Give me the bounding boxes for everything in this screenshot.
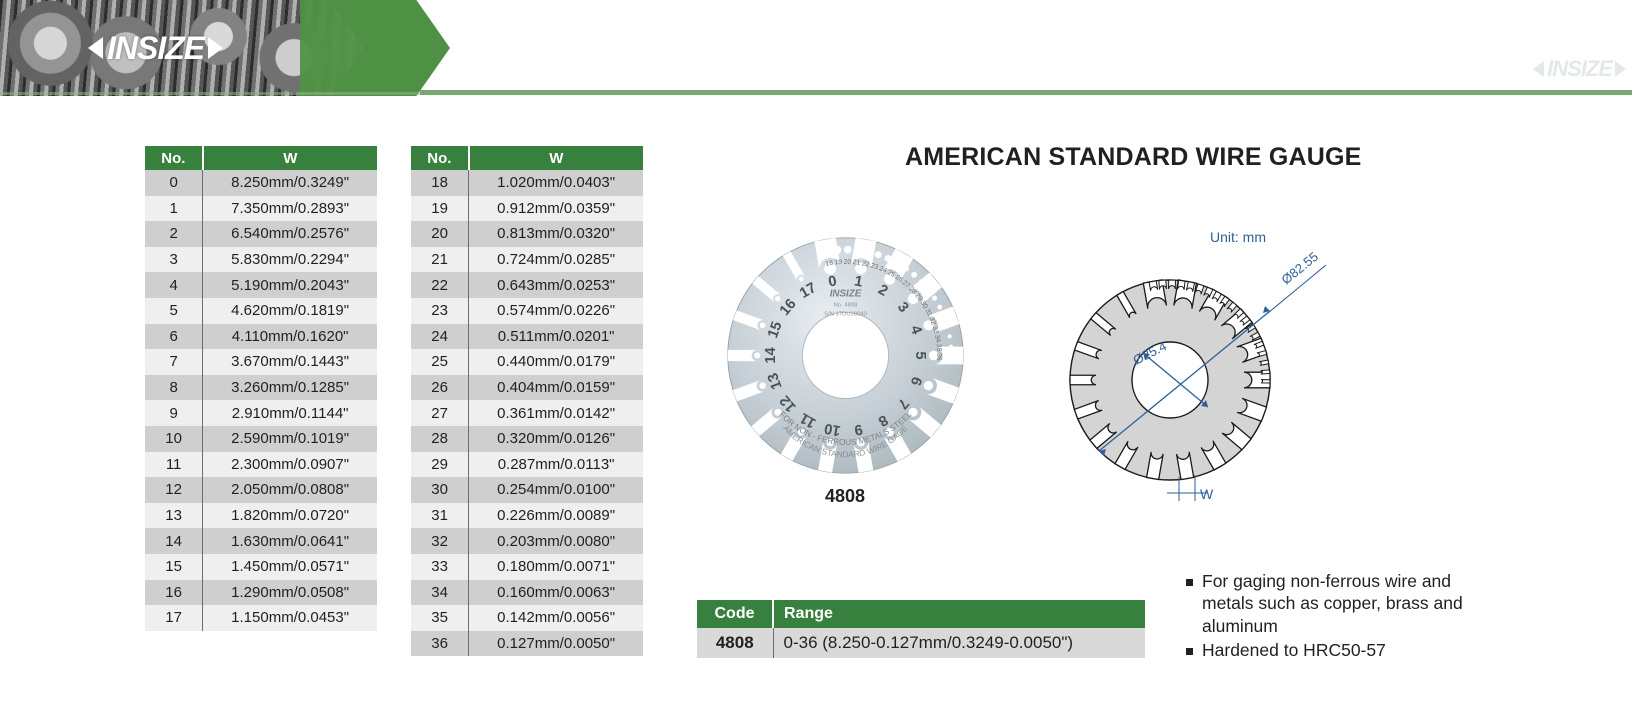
gauge-slot-small — [911, 272, 917, 278]
cell-w: 4.110mm/0.1620" — [203, 324, 377, 350]
cell-no: 10 — [145, 426, 203, 452]
cell-no: 19 — [411, 196, 469, 222]
gauge-slot-small — [894, 260, 900, 266]
product-code-label: 4808 — [700, 486, 990, 507]
cell-no: 18 — [411, 170, 469, 196]
gauge-number-small: 21 — [852, 259, 861, 267]
code-range-table: Code Range 4808 0-36 (8.250-0.127mm/0.32… — [697, 600, 1145, 658]
engraving-model: No. 4808 — [834, 302, 859, 308]
cell-w: 2.590mm/0.1019" — [203, 426, 377, 452]
cell-no: 29 — [411, 452, 469, 478]
cell-no: 33 — [411, 554, 469, 580]
drawing-slot-small — [1261, 380, 1270, 383]
cell-no: 5 — [145, 298, 203, 324]
table-row: 45.190mm/0.2043" — [145, 272, 377, 298]
gauge-number-small: 35 — [935, 344, 943, 352]
brand-name: INSIZE — [107, 32, 204, 64]
cell-w: 2.050mm/0.0808" — [203, 477, 377, 503]
gauge-slot-small — [919, 279, 925, 285]
table-row: 220.643mm/0.0253" — [411, 272, 643, 298]
cell-no: 31 — [411, 503, 469, 529]
cell-no: 20 — [411, 221, 469, 247]
table-row: 300.254mm/0.0100" — [411, 477, 643, 503]
table-row: 270.361mm/0.0142" — [411, 400, 643, 426]
table-row: 161.290mm/0.0508" — [145, 580, 377, 606]
list-item: Hardened to HRC50-57 — [1186, 639, 1486, 661]
cell-no: 16 — [145, 580, 203, 606]
cell-no: 13 — [145, 503, 203, 529]
cell-w: 1.290mm/0.0508" — [203, 580, 377, 606]
cell-no: 23 — [411, 298, 469, 324]
gauge-slot-small — [932, 296, 937, 301]
cell-no: 32 — [411, 528, 469, 554]
column-header-code: Code — [697, 600, 773, 628]
cell-w: 2.300mm/0.0907" — [203, 452, 377, 478]
table-row: 122.050mm/0.0808" — [145, 477, 377, 503]
gauge-slot-small — [926, 287, 931, 292]
engraving-brand: INSIZE — [830, 289, 862, 300]
page-header: INSIZE INSIZE — [0, 0, 1632, 96]
gauge-slot-small — [903, 265, 909, 271]
wire-gauge-table-right: No. W 181.020mm/0.0403"190.912mm/0.0359"… — [411, 146, 643, 656]
unit-label: Unit: mm — [1210, 229, 1266, 245]
table-body-left: 08.250mm/0.3249"17.350mm/0.2893"26.540mm… — [145, 170, 377, 631]
table-header-row: No. W — [411, 146, 643, 170]
gauge-dimension-drawing: Ø82.55 Ø25.4 W — [1040, 225, 1340, 505]
cell-w: 0.813mm/0.0320" — [469, 221, 643, 247]
table-row: 181.020mm/0.0403" — [411, 170, 643, 196]
cell-no: 24 — [411, 324, 469, 350]
watermark-brand-name: INSIZE — [1547, 58, 1612, 80]
gauge-slot-small — [823, 247, 831, 255]
column-header-w: W — [203, 146, 377, 170]
arrow-left-icon — [88, 37, 103, 59]
gauge-slot-small — [885, 255, 892, 262]
page-title: AMERICAN STANDARD WIRE GAUGE — [905, 143, 1362, 172]
table-row: 08.250mm/0.3249" — [145, 170, 377, 196]
table-row: 360.127mm/0.0050" — [411, 631, 643, 657]
gauge-number: 14 — [763, 347, 779, 364]
cell-no: 34 — [411, 580, 469, 606]
code-table-header-row: Code Range — [697, 600, 1145, 628]
cell-w: 0.440mm/0.0179" — [469, 349, 643, 375]
outer-diameter-label: Ø82.55 — [1278, 249, 1321, 288]
table-row: 330.180mm/0.0071" — [411, 554, 643, 580]
cell-no: 8 — [145, 375, 203, 401]
column-header-no: No. — [145, 146, 203, 170]
code-table-body: 4808 0-36 (8.250-0.127mm/0.3249-0.0050") — [697, 628, 1145, 658]
table-row: 131.820mm/0.0720" — [145, 503, 377, 529]
cell-w: 0.142mm/0.0056" — [469, 605, 643, 631]
cell-w: 1.630mm/0.0641" — [203, 528, 377, 554]
cell-w: 0.361mm/0.0142" — [469, 400, 643, 426]
cell-w: 0.254mm/0.0100" — [469, 477, 643, 503]
table-header-row: No. W — [145, 146, 377, 170]
feature-text: Hardened to HRC50-57 — [1202, 639, 1386, 661]
wire-gauge-table-left: No. W 08.250mm/0.3249"17.350mm/0.2893"26… — [145, 146, 377, 631]
cell-w: 0.724mm/0.0285" — [469, 247, 643, 273]
cell-no: 1 — [145, 196, 203, 222]
feature-list: For gaging non-ferrous wire and metals s… — [1186, 570, 1486, 664]
cell-w: 0.574mm/0.0226" — [469, 298, 643, 324]
gauge-slot-small — [937, 305, 942, 310]
cell-no: 9 — [145, 400, 203, 426]
table-row: 340.160mm/0.0063" — [411, 580, 643, 606]
cell-w: 0.180mm/0.0071" — [469, 554, 643, 580]
cell-w: 2.910mm/0.1144" — [203, 400, 377, 426]
arrow-right-icon — [1615, 61, 1626, 77]
table-row: 26.540mm/0.2576" — [145, 221, 377, 247]
cell-w: 3.670mm/0.1443" — [203, 349, 377, 375]
table-row: 151.450mm/0.0571" — [145, 554, 377, 580]
table-row: 260.404mm/0.0159" — [411, 375, 643, 401]
cell-no: 27 — [411, 400, 469, 426]
cell-no: 4 — [145, 272, 203, 298]
table-row: 92.910mm/0.1144" — [145, 400, 377, 426]
cell-w: 0.511mm/0.0201" — [469, 324, 643, 350]
gauge-slot-small — [950, 355, 954, 359]
cell-no: 17 — [145, 605, 203, 631]
table-row: 320.203mm/0.0080" — [411, 528, 643, 554]
gauge-slot-small — [854, 247, 861, 254]
cell-w: 5.830mm/0.2294" — [203, 247, 377, 273]
column-header-no: No. — [411, 146, 469, 170]
cell-w: 0.127mm/0.0050" — [469, 631, 643, 657]
cell-no: 22 — [411, 272, 469, 298]
gauge-slot-small — [942, 314, 947, 319]
table-row: 102.590mm/0.1019" — [145, 426, 377, 452]
cell-no: 3 — [145, 247, 203, 273]
technical-drawing-block: Unit: mm Ø82.55 Ø25.4 W — [1040, 225, 1340, 505]
cell-no: 2 — [145, 221, 203, 247]
cell-no: 21 — [411, 247, 469, 273]
header-divider — [420, 90, 1632, 95]
feature-text: For gaging non-ferrous wire and metals s… — [1202, 570, 1486, 637]
cell-no: 6 — [145, 324, 203, 350]
column-header-w: W — [469, 146, 643, 170]
table-row: 210.724mm/0.0285" — [411, 247, 643, 273]
cell-code: 4808 — [697, 628, 773, 658]
gauge-slot-small — [844, 246, 852, 254]
table-row: 250.440mm/0.0179" — [411, 349, 643, 375]
cell-w: 1.820mm/0.0720" — [203, 503, 377, 529]
cell-w: 4.620mm/0.1819" — [203, 298, 377, 324]
arrow-right-icon — [208, 37, 223, 59]
cell-w: 0.203mm/0.0080" — [469, 528, 643, 554]
cell-w: 5.190mm/0.2043" — [203, 272, 377, 298]
list-item: For gaging non-ferrous wire and metals s… — [1186, 570, 1486, 637]
cell-w: 3.260mm/0.1285" — [203, 375, 377, 401]
table-row: 112.300mm/0.0907" — [145, 452, 377, 478]
cell-w: 0.912mm/0.0359" — [469, 196, 643, 222]
catalog-page: INSIZE INSIZE No. W 08.250mm/0.3249"17.3… — [0, 0, 1632, 719]
cell-w: 1.450mm/0.0571" — [203, 554, 377, 580]
table-row: 73.670mm/0.1443" — [145, 349, 377, 375]
cell-w: 0.404mm/0.0159" — [469, 375, 643, 401]
cell-no: 0 — [145, 170, 203, 196]
cell-w: 1.150mm/0.0453" — [203, 605, 377, 631]
cell-w: 6.540mm/0.2576" — [203, 221, 377, 247]
cell-w: 0.226mm/0.0089" — [469, 503, 643, 529]
table-row: 280.320mm/0.0126" — [411, 426, 643, 452]
gauge-slot-small — [945, 324, 949, 328]
table-row: 64.110mm/0.1620" — [145, 324, 377, 350]
gauge-slot-small — [948, 334, 952, 338]
cell-w: 8.250mm/0.3249" — [203, 170, 377, 196]
cell-no: 30 — [411, 477, 469, 503]
square-bullet-icon — [1186, 579, 1193, 586]
table-body-right: 181.020mm/0.0403"190.912mm/0.0359"200.81… — [411, 170, 643, 656]
gauge-number-small: 19 — [834, 259, 842, 267]
table-row: 17.350mm/0.2893" — [145, 196, 377, 222]
gauge-number-small: 18 — [825, 260, 834, 268]
wire-gauge-photo: 01234567891011121314151617 1819202122232… — [718, 228, 973, 483]
table-row: 35.830mm/0.2294" — [145, 247, 377, 273]
gauge-slot-small — [875, 251, 882, 258]
cell-no: 36 — [411, 631, 469, 657]
square-bullet-icon — [1186, 648, 1193, 655]
table-row: 230.574mm/0.0226" — [411, 298, 643, 324]
arrow-left-icon — [1533, 61, 1544, 77]
cell-no: 15 — [145, 554, 203, 580]
gauge-number-small: 36 — [935, 353, 942, 361]
cell-no: 11 — [145, 452, 203, 478]
cell-no: 28 — [411, 426, 469, 452]
gauge-slot-small — [833, 246, 841, 254]
cell-w: 0.643mm/0.0253" — [469, 272, 643, 298]
cell-no: 35 — [411, 605, 469, 631]
cell-w: 0.320mm/0.0126" — [469, 426, 643, 452]
gauge-number: 5 — [912, 351, 928, 359]
gauge-slot-small — [949, 345, 953, 349]
cell-w: 0.287mm/0.0113" — [469, 452, 643, 478]
gauge-number-small: 20 — [844, 259, 852, 266]
cell-range: 0-36 (8.250-0.127mm/0.3249-0.0050") — [773, 628, 1145, 658]
engraving-serial: S/N 17DU28040 — [824, 311, 868, 317]
drawing-slot-small — [1261, 370, 1270, 374]
cell-w: 7.350mm/0.2893" — [203, 196, 377, 222]
cell-no: 7 — [145, 349, 203, 375]
table-row: 141.630mm/0.0641" — [145, 528, 377, 554]
insize-logo-watermark: INSIZE — [1533, 58, 1626, 80]
table-row: 290.287mm/0.0113" — [411, 452, 643, 478]
table-row: 171.150mm/0.0453" — [145, 605, 377, 631]
table-row: 350.142mm/0.0056" — [411, 605, 643, 631]
table-row: 200.813mm/0.0320" — [411, 221, 643, 247]
gauge-slot-small — [865, 248, 872, 255]
table-row: 4808 0-36 (8.250-0.127mm/0.3249-0.0050") — [697, 628, 1145, 658]
product-photo-block: 01234567891011121314151617 1819202122232… — [700, 228, 990, 518]
slot-width-label: W — [1200, 486, 1214, 502]
table-row: 240.511mm/0.0201" — [411, 324, 643, 350]
gauge-number-small: 34 — [933, 334, 941, 343]
cell-no: 12 — [145, 477, 203, 503]
cell-no: 14 — [145, 528, 203, 554]
table-row: 190.912mm/0.0359" — [411, 196, 643, 222]
insize-logo: INSIZE — [88, 32, 223, 64]
table-row: 310.226mm/0.0089" — [411, 503, 643, 529]
table-row: 83.260mm/0.1285" — [145, 375, 377, 401]
column-header-range: Range — [773, 600, 1145, 628]
cell-no: 25 — [411, 349, 469, 375]
cell-w: 1.020mm/0.0403" — [469, 170, 643, 196]
cell-w: 0.160mm/0.0063" — [469, 580, 643, 606]
table-row: 54.620mm/0.1819" — [145, 298, 377, 324]
cell-no: 26 — [411, 375, 469, 401]
